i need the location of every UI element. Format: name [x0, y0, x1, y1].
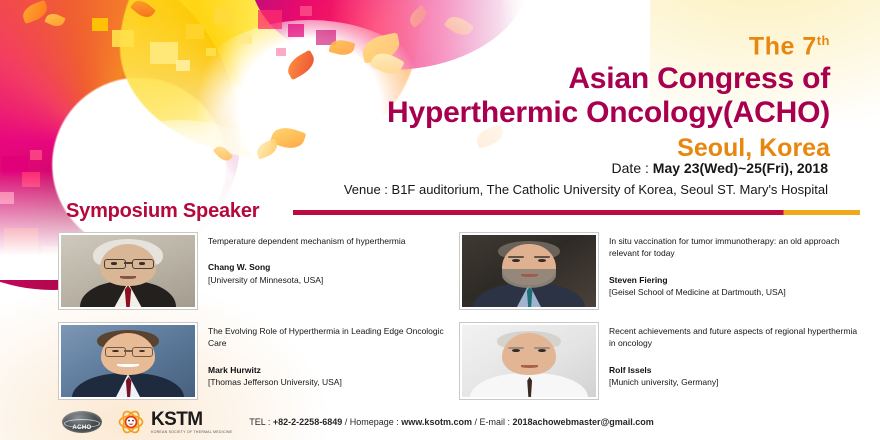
speaker-name: Steven Fiering: [609, 274, 858, 286]
headline-ordinal-suffix: th: [817, 33, 830, 48]
homepage-value[interactable]: www.ksotm.com: [401, 417, 472, 427]
acho-logo-text: ACHO: [62, 425, 102, 431]
event-date: Date : May 23(Wed)~25(Fri), 2018: [344, 158, 828, 179]
speaker-card[interactable]: In situ vaccination for tumor immunother…: [459, 232, 858, 322]
kstm-logo: KSTM KOREAN SOCIETY OF THERMAL MEDICINE: [118, 410, 232, 435]
poster-headline: The 7th Asian Congress of Hyperthermic O…: [387, 34, 830, 163]
headline-line-2: Hyperthermic Oncology(ACHO): [387, 96, 830, 130]
speaker-affiliation: [University of Minnesota, USA]: [208, 274, 457, 286]
kstm-logo-subtext: KOREAN SOCIETY OF THERMAL MEDICINE: [151, 431, 232, 435]
speaker-text: Recent achievements and future aspects o…: [599, 322, 858, 412]
speaker-affiliation: [Munich university, Germany]: [609, 376, 858, 388]
speaker-talk-title: Temperature dependent mechanism of hyper…: [208, 235, 457, 247]
speaker-talk-title: In situ vaccination for tumor immunother…: [609, 235, 858, 260]
email-value[interactable]: 2018achowebmaster@gmail.com: [512, 417, 653, 427]
event-date-value: May 23(Wed)~25(Fri), 2018: [653, 160, 828, 176]
event-date-label: Date :: [612, 160, 653, 176]
speaker-card[interactable]: Recent achievements and future aspects o…: [459, 322, 858, 412]
speaker-talk-title: Recent achievements and future aspects o…: [609, 325, 858, 350]
speaker-identity: Mark Hurwitz [Thomas Jefferson Universit…: [208, 364, 457, 389]
speaker-card[interactable]: The Evolving Role of Hyperthermia in Lea…: [58, 322, 457, 412]
section-title: Symposium Speaker: [66, 200, 259, 223]
kstm-wordmark: KSTM KOREAN SOCIETY OF THERMAL MEDICINE: [151, 410, 232, 435]
speaker-photo-chang-w-song: [58, 232, 198, 310]
speaker-photo-mark-hurwitz: [58, 322, 198, 400]
contact-separator-1: / Homepage :: [342, 417, 401, 427]
speaker-name: Rolf Issels: [609, 364, 858, 376]
speaker-card[interactable]: Temperature dependent mechanism of hyper…: [58, 232, 457, 322]
speaker-affiliation: [Geisel School of Medicine at Dartmouth,…: [609, 286, 858, 298]
headline-ordinal: The 7th: [387, 34, 830, 59]
kstm-logo-text: KSTM: [151, 410, 232, 429]
speaker-identity: Chang W. Song [University of Minnesota, …: [208, 261, 457, 286]
speaker-talk-title: The Evolving Role of Hyperthermia in Lea…: [208, 325, 457, 350]
speaker-affiliation: [Thomas Jefferson University, USA]: [208, 376, 457, 388]
tel-label: TEL :: [249, 417, 273, 427]
section-header: Symposium Speaker: [66, 200, 860, 223]
poster-footer: ACHO KSTM KOREAN SOCIETY OF THERMAL MEDI…: [0, 404, 880, 440]
speaker-text: Temperature dependent mechanism of hyper…: [198, 232, 457, 322]
speaker-photo-rolf-issels: [459, 322, 599, 400]
speaker-photo-steven-fiering: [459, 232, 599, 310]
speaker-name: Mark Hurwitz: [208, 364, 457, 376]
headline-line-1: Asian Congress of: [387, 62, 830, 96]
footer-contact-line: TEL : +82-2-2258-6849 / Homepage : www.k…: [249, 417, 654, 427]
event-venue: Venue : B1F auditorium, The Catholic Uni…: [344, 180, 828, 200]
speaker-row: The Evolving Role of Hyperthermia in Lea…: [58, 322, 858, 412]
speaker-text: The Evolving Role of Hyperthermia in Lea…: [198, 322, 457, 412]
speaker-name: Chang W. Song: [208, 261, 457, 273]
headline-ordinal-text: The 7: [749, 32, 817, 60]
speaker-row: Temperature dependent mechanism of hyper…: [58, 232, 858, 322]
speaker-identity: Steven Fiering [Geisel School of Medicin…: [609, 274, 858, 299]
conference-poster: The 7th Asian Congress of Hyperthermic O…: [0, 0, 880, 440]
speaker-grid: Temperature dependent mechanism of hyper…: [58, 232, 858, 412]
event-meta: Date : May 23(Wed)~25(Fri), 2018 Venue :…: [344, 158, 828, 200]
tel-value: +82-2-2258-6849: [273, 417, 342, 427]
section-divider-rule: [293, 210, 860, 215]
acho-logo-icon: ACHO: [62, 411, 102, 433]
contact-separator-2: / E-mail :: [472, 417, 513, 427]
speaker-text: In situ vaccination for tumor immunother…: [599, 232, 858, 322]
kstm-atom-icon: [118, 410, 144, 434]
speaker-identity: Rolf Issels [Munich university, Germany]: [609, 364, 858, 389]
